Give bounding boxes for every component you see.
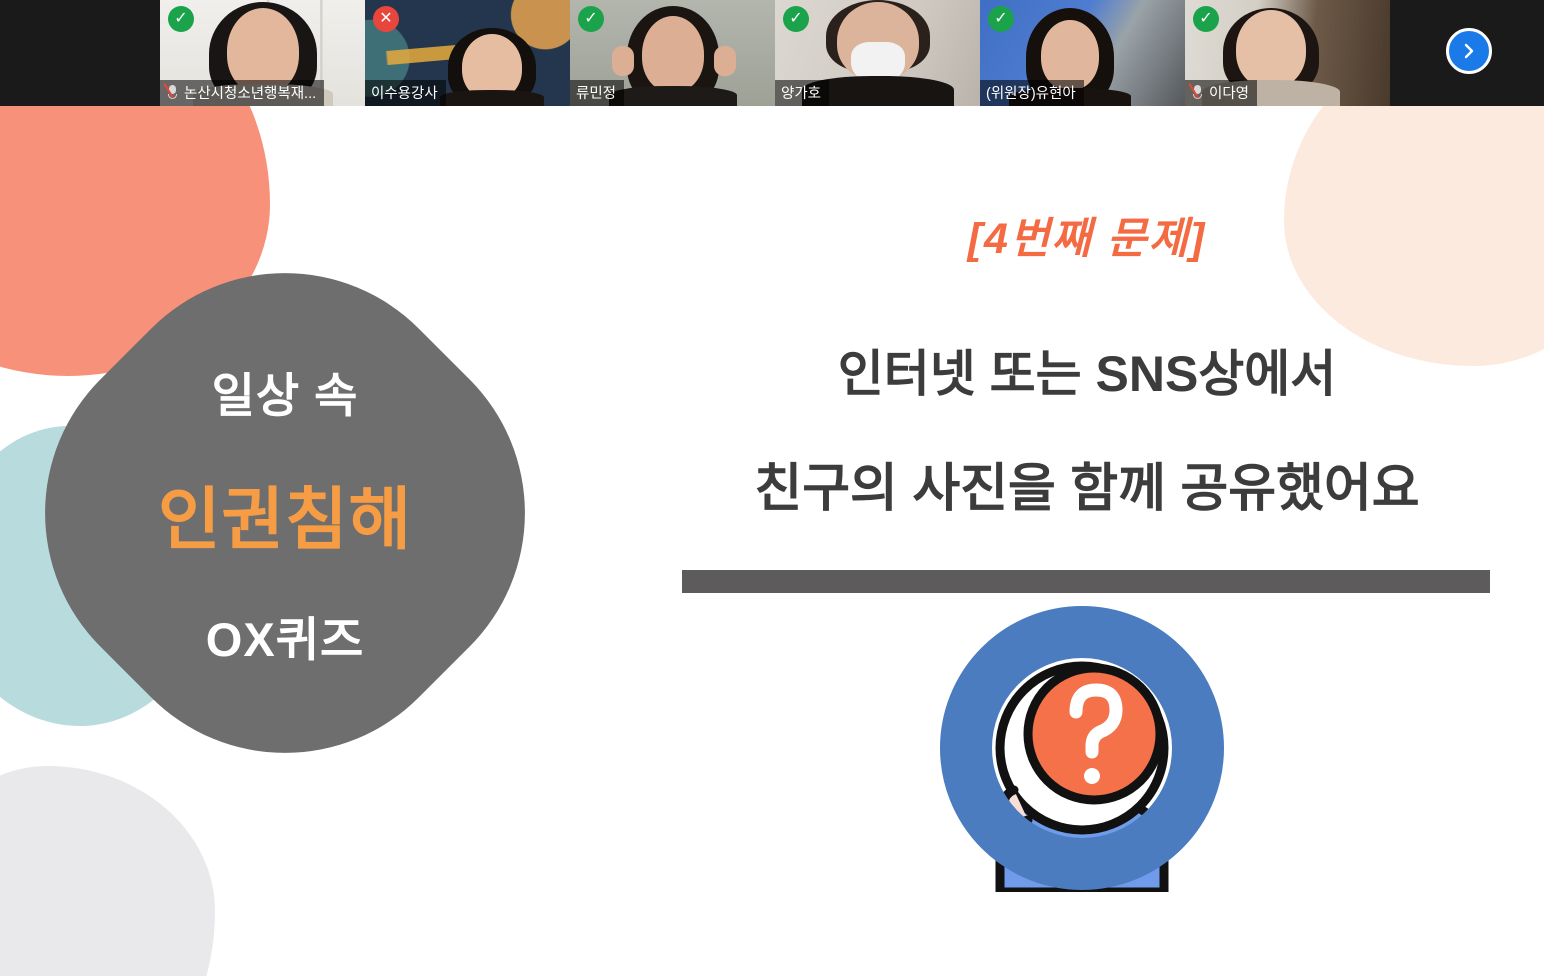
question-line1: 인터넷 또는 SNS상에서: [682, 334, 1492, 406]
chevron-right-icon: [1460, 42, 1478, 60]
status-check-circle-icon: ✓: [988, 6, 1014, 32]
status-check-circle-icon: ✓: [578, 6, 604, 32]
face: [642, 16, 704, 92]
participant-name: 이다영: [1209, 82, 1249, 103]
participant-name: (위원장)유현아: [986, 82, 1076, 103]
face: [1236, 10, 1306, 88]
left-panel-line1: 일상 속: [212, 357, 359, 426]
decorative-blob-lightgray: [0, 766, 215, 976]
status-x-circle-icon: ✕: [373, 6, 399, 32]
shoulders: [609, 86, 737, 106]
status-check-circle-icon: ✓: [1193, 6, 1219, 32]
participant-name-bar: 논산시청소년행복재...: [160, 80, 324, 106]
horizontal-divider: [682, 570, 1490, 593]
participant-tile[interactable]: ✓ (위원장)유현아: [980, 0, 1185, 106]
participant-tile[interactable]: ✓ 양가호: [775, 0, 980, 106]
raised-hand-right: [714, 46, 736, 76]
participant-name: 논산시청소년행복재...: [184, 82, 316, 103]
raised-hand-left: [612, 46, 634, 76]
participant-name-bar: (위원장)유현아: [980, 80, 1084, 106]
participant-name: 양가호: [781, 82, 821, 103]
presentation-slide: 일상 속 인권침해 OX퀴즈 [4번째 문제] 인터넷 또는 SNS상에서 친구…: [0, 106, 1544, 976]
shoulders: [440, 90, 544, 106]
question-line2: 친구의 사진을 함께 공유했어요: [682, 446, 1492, 521]
participant-tile[interactable]: ✓ 류민정: [570, 0, 775, 106]
participant-figure: [608, 0, 738, 106]
left-panel-line2: 인권침해: [158, 464, 412, 563]
muted-mic-icon: [166, 84, 179, 101]
participant-tile[interactable]: ✓ 이다영: [1185, 0, 1390, 106]
person-with-question-mark-icon: [938, 604, 1226, 892]
left-panel-line3: OX퀴즈: [206, 601, 364, 670]
question-header: [4번째 문제]: [682, 204, 1492, 266]
participant-name: 류민정: [576, 82, 616, 103]
participant-tile[interactable]: ✕ 이수용강사: [365, 0, 570, 106]
left-panel-text: 일상 속 인권침해 OX퀴즈: [60, 288, 510, 738]
participant-name-bar: 이다영: [1185, 80, 1257, 106]
video-filmstrip: ✓ 논산시청소년행복재... ✕ 이수용강사: [0, 0, 1544, 106]
muted-mic-icon: [1191, 84, 1204, 101]
participant-name: 이수용강사: [371, 82, 438, 103]
next-page-button[interactable]: [1446, 28, 1492, 74]
participant-name-bar: 양가호: [775, 80, 829, 106]
status-check-circle-icon: ✓: [783, 6, 809, 32]
participant-name-bar: 류민정: [570, 80, 624, 106]
participant-name-bar: 이수용강사: [365, 80, 446, 106]
participant-figure: [432, 28, 552, 106]
participant-tile[interactable]: ✓ 논산시청소년행복재...: [160, 0, 365, 106]
status-check-circle-icon: ✓: [168, 6, 194, 32]
